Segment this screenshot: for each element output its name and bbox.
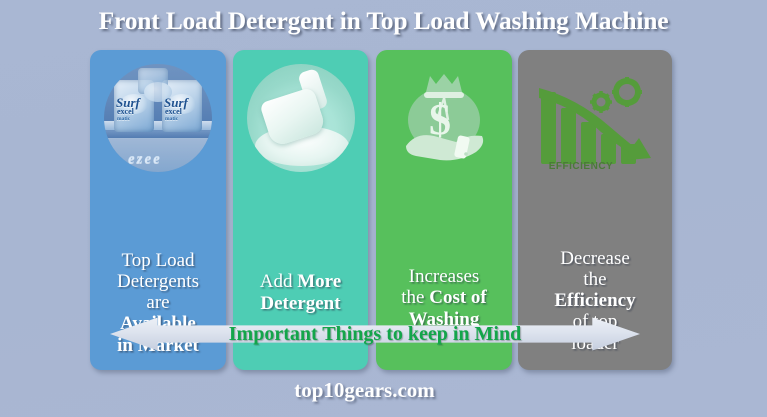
brand-sublabel-excel-left: excel	[117, 108, 134, 116]
chart-label: EFFICIENCY	[549, 161, 613, 172]
card-1-line-3: are	[146, 292, 169, 313]
detergent-packs-photo: Surf excel matic Surf excel matic ezee	[104, 64, 212, 172]
card-2-line-1-bold: More	[297, 271, 341, 292]
site-url: top10gears.com	[294, 378, 473, 402]
brand-sublabel-matic-left: matic	[117, 117, 130, 123]
page-title: Front Load Detergent in Top Load Washing…	[0, 6, 767, 36]
chart-bar-3	[581, 122, 596, 164]
site-watermark: top10gears.com	[0, 378, 767, 403]
photo-surf-backdrop: Surf excel matic Surf excel matic ezee	[104, 64, 212, 172]
shelf-brand-label: ezee	[128, 152, 162, 167]
card-1-line-1: Top Load	[121, 250, 194, 271]
card-2-line-1: Add	[260, 271, 297, 292]
card-2-line-2: Detergent	[260, 293, 340, 314]
card-3-line-1: Increases	[409, 266, 480, 287]
detergent-powder-scoop-photo	[247, 64, 355, 172]
brand-sublabel-matic-right: matic	[165, 117, 178, 123]
card-4-line-2: the	[583, 269, 606, 290]
declining-bar-chart-with-gears-icon: EFFICIENCY	[527, 64, 663, 176]
brand-sublabel-excel-right: excel	[165, 108, 182, 116]
card-3-line-2: the	[401, 287, 429, 308]
detergent-pack-back	[138, 68, 168, 94]
gear-large	[612, 77, 642, 107]
card-3-line-2-bold: Cost of	[429, 287, 487, 308]
chart-bar-1	[541, 92, 556, 164]
infographic-canvas: Front Load Detergent in Top Load Washing…	[0, 0, 767, 417]
card-4-line-1: Decrease	[560, 248, 630, 269]
chart-bar-2	[561, 108, 576, 164]
card-4-line-3: Efficiency	[554, 290, 635, 311]
banner-label: Important Things to keep in Mind	[110, 316, 640, 352]
gear-small	[590, 91, 612, 113]
money-bag-in-hand-icon: $	[382, 62, 506, 174]
photo-powder-backdrop	[247, 64, 355, 172]
important-things-banner: Important Things to keep in Mind	[110, 316, 640, 352]
card-2-text: Add More Detergent	[237, 271, 364, 314]
card-1-line-2: Detergents	[117, 271, 199, 292]
